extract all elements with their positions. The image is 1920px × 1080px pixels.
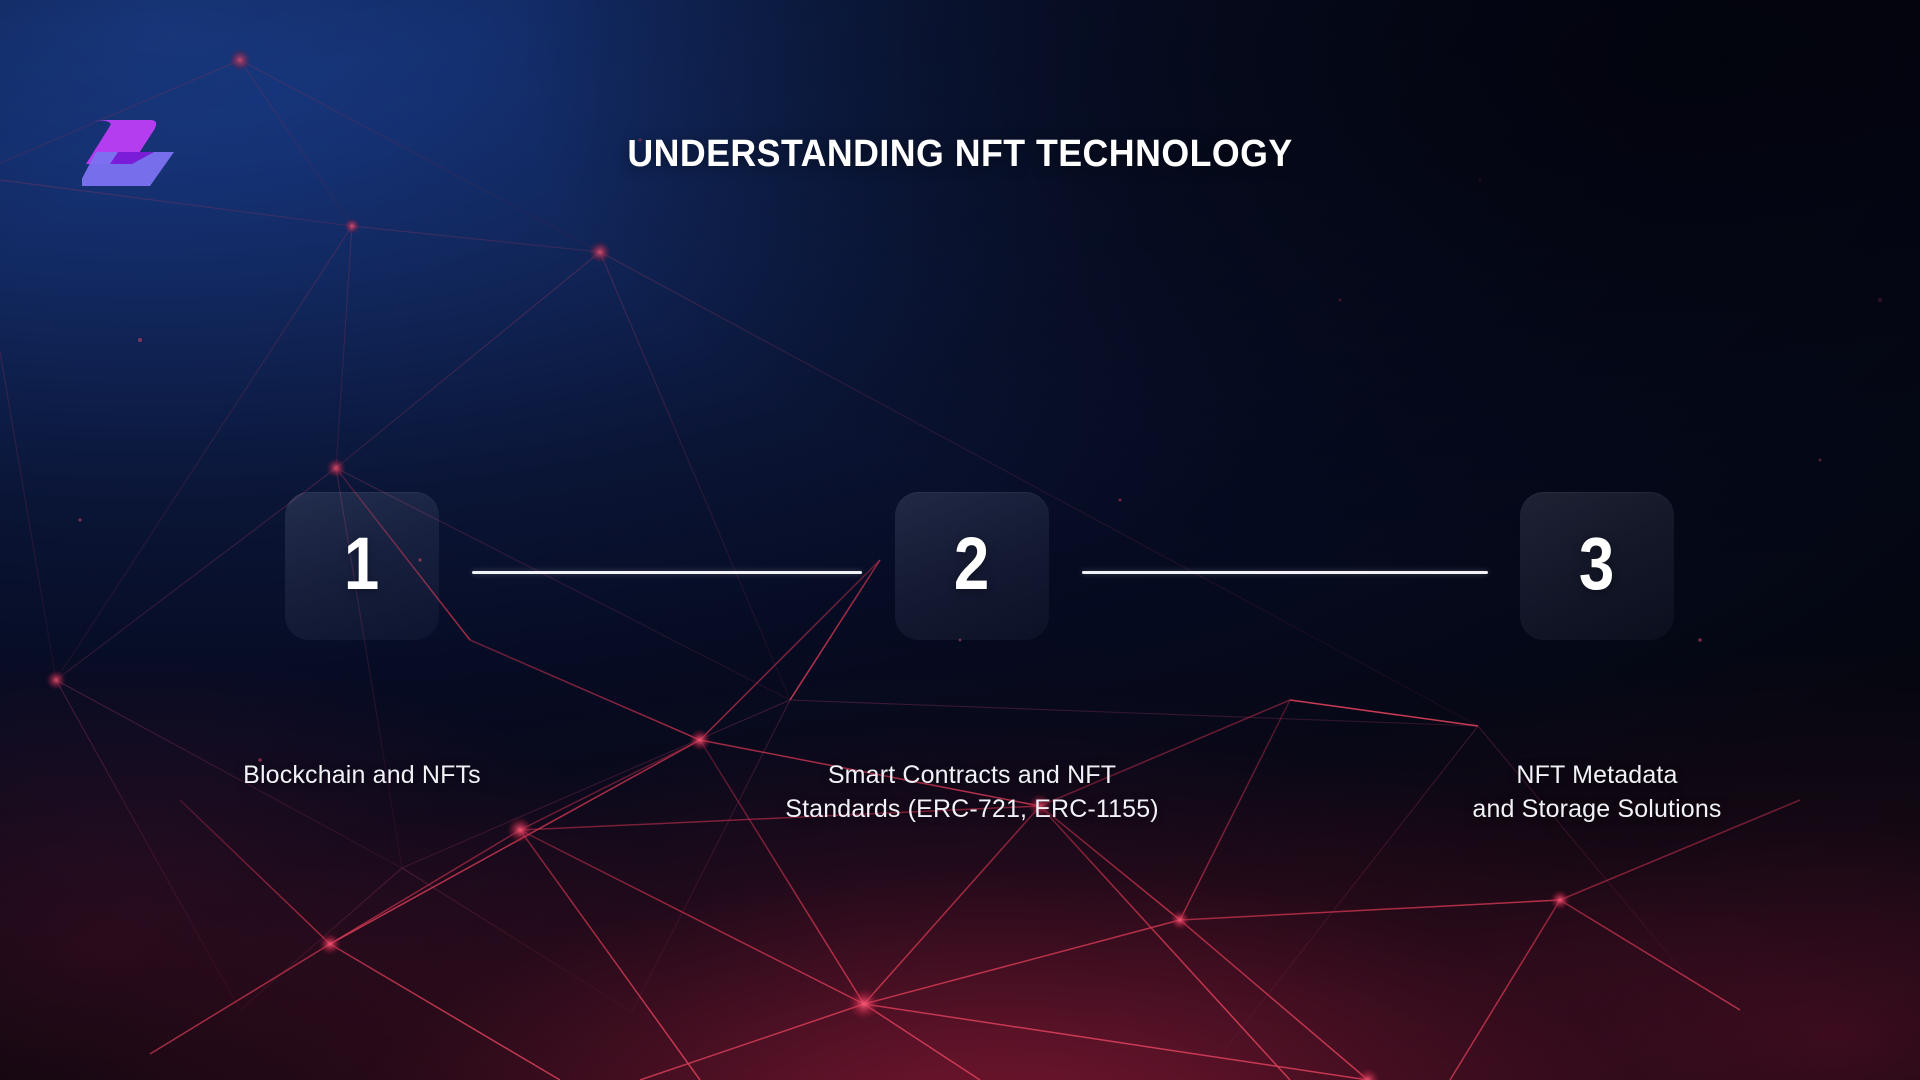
step-caption-1: Blockchain and NFTs xyxy=(112,758,612,792)
step-caption-2-line-1: Smart Contracts and NFT xyxy=(722,758,1222,792)
step-number-1: 1 xyxy=(344,527,379,601)
step-caption-3-line-2: and Storage Solutions xyxy=(1347,792,1847,826)
slide-root: UNDERSTANDING NFT TECHNOLOGY 1 2 3 Block… xyxy=(0,0,1920,1080)
step-caption-3-line-1: NFT Metadata xyxy=(1347,758,1847,792)
connector-1-to-2 xyxy=(472,571,862,574)
step-caption-2-line-2: Standards (ERC-721, ERC-1155) xyxy=(722,792,1222,826)
step-caption-2: Smart Contracts and NFT Standards (ERC-7… xyxy=(722,758,1222,826)
step-box-2[interactable]: 2 xyxy=(895,492,1049,640)
step-box-1[interactable]: 1 xyxy=(285,492,439,640)
connector-2-to-3 xyxy=(1082,571,1488,574)
step-box-3[interactable]: 3 xyxy=(1520,492,1674,640)
steps-container: 1 2 3 Blockchain and NFTs Smart Contract… xyxy=(0,0,1920,1080)
step-caption-3: NFT Metadata and Storage Solutions xyxy=(1347,758,1847,826)
step-number-2: 2 xyxy=(954,527,989,601)
step-caption-1-line-1: Blockchain and NFTs xyxy=(112,758,612,792)
step-number-3: 3 xyxy=(1579,527,1614,601)
